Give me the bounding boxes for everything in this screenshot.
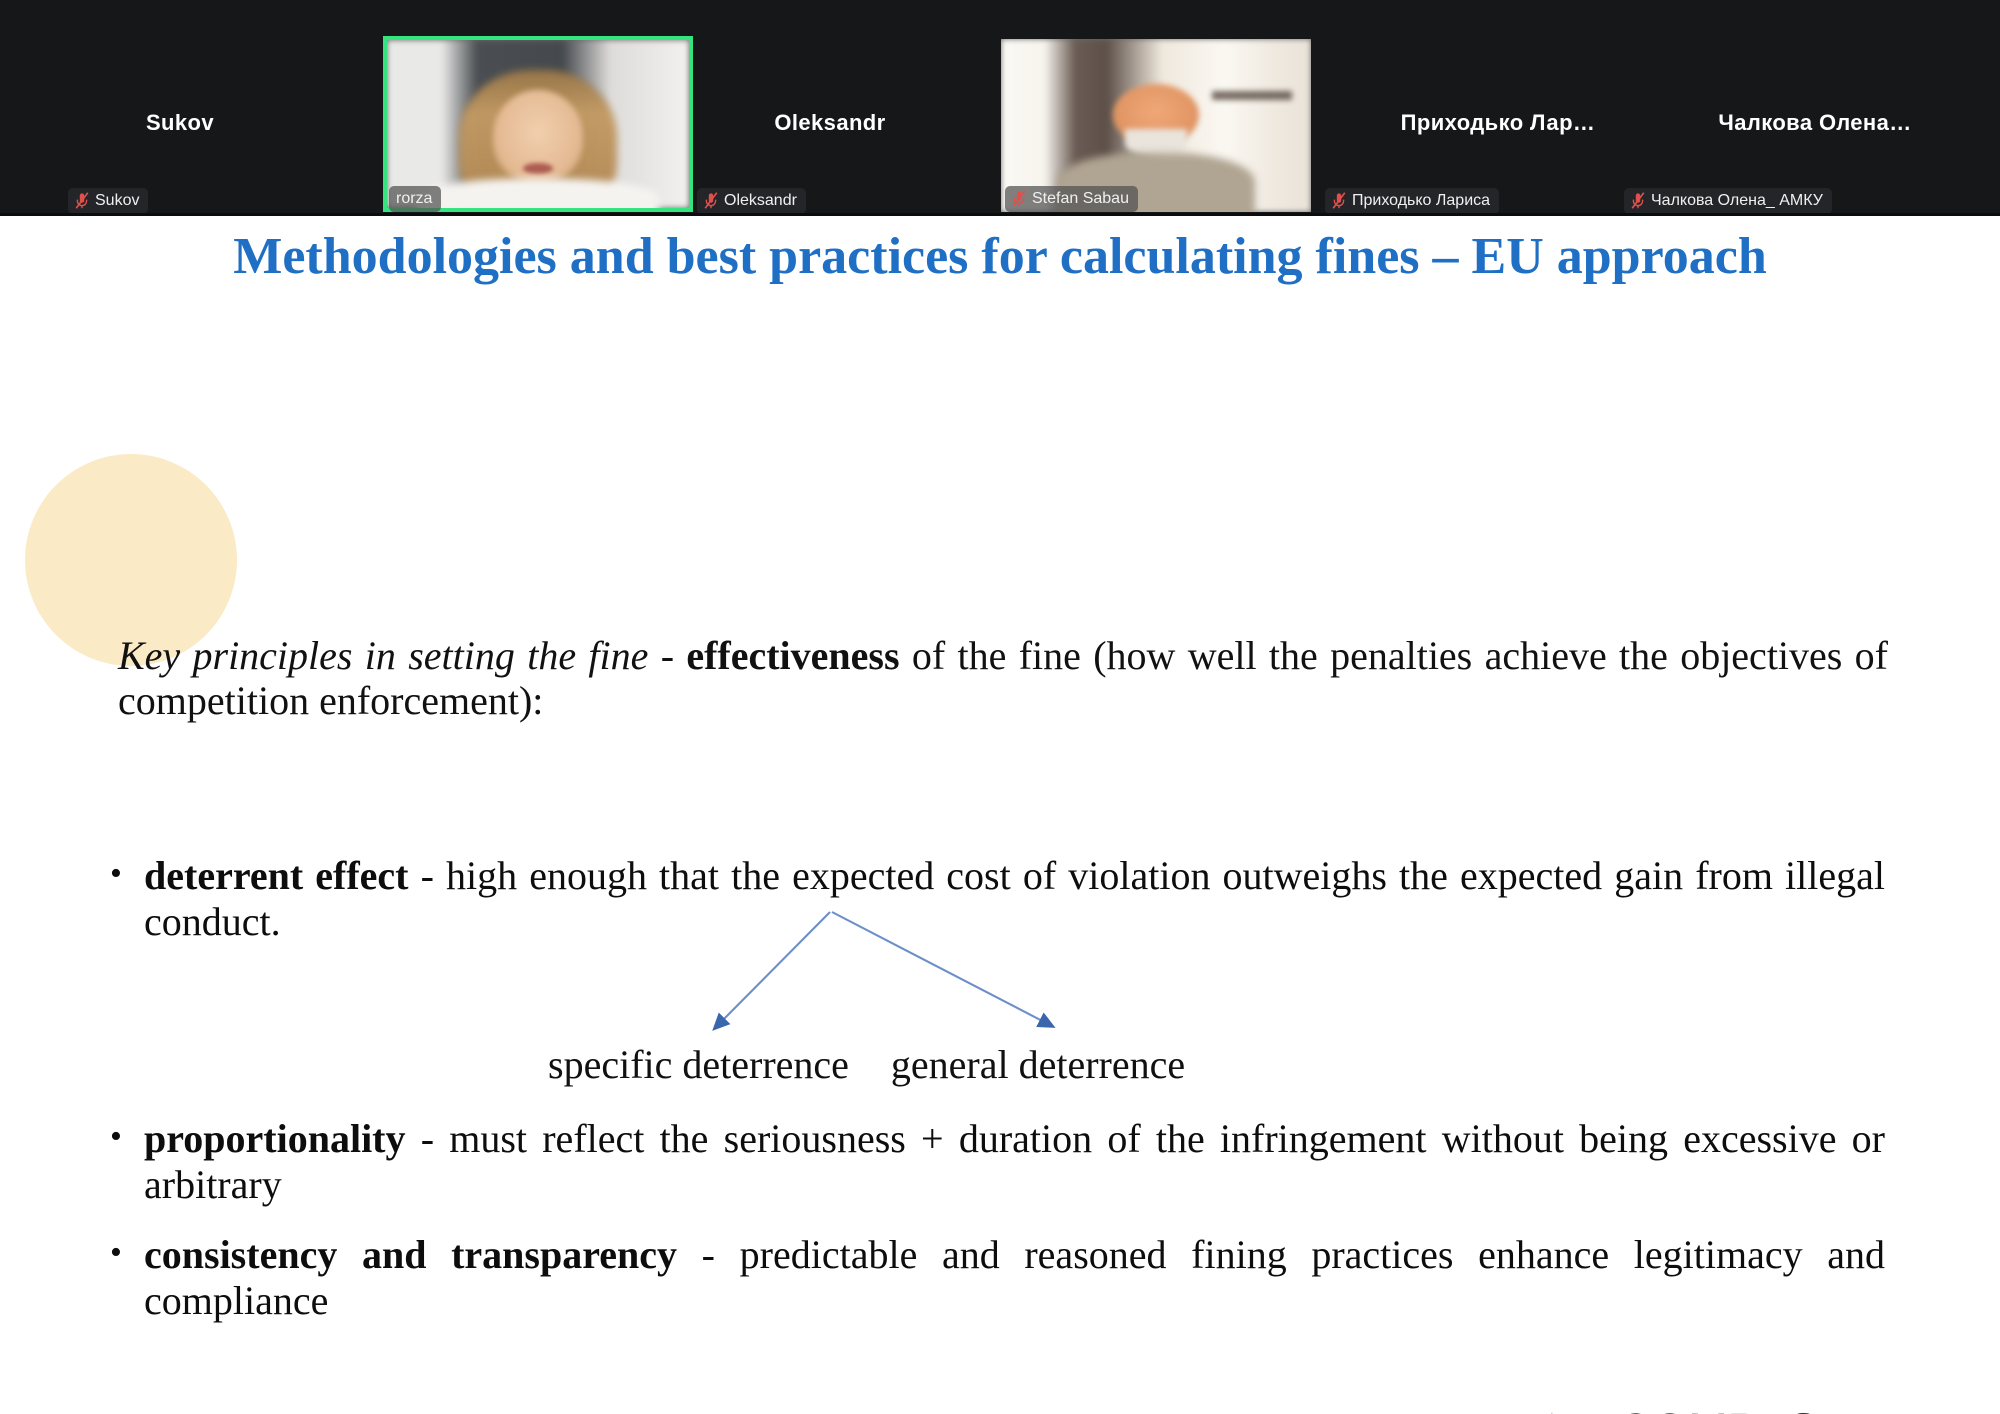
bullet-lead-term: deterrent effect xyxy=(144,853,409,898)
mic-muted-icon xyxy=(1012,190,1026,207)
participant-badge-label-0: Sukov xyxy=(95,192,139,210)
compasa-star-icon xyxy=(1495,1408,1603,1414)
bullet-consistency-transparency: • consistency and transparency - predict… xyxy=(110,1232,1885,1323)
bullet-marker: • xyxy=(110,1116,144,1159)
participant-name-5: Чалкова Олена… xyxy=(1645,110,1985,136)
label-specific-deterrence: specific deterrence xyxy=(548,1041,849,1088)
presentation-slide: Methodologies and best practices for cal… xyxy=(0,216,2000,1414)
lead-bold: effectiveness xyxy=(686,633,899,678)
deterrence-arrows xyxy=(660,906,1140,1041)
bullet-proportionality: • proportionality - must reflect the ser… xyxy=(110,1116,1885,1207)
deterrence-labels: specific deterrence general deterrence xyxy=(548,1041,1308,1088)
participant-badge-0: Sukov xyxy=(68,188,148,214)
lead-italic: Key principles in setting the fine xyxy=(118,633,648,678)
participant-badge-label-4: Приходько Лариса xyxy=(1352,192,1490,210)
lead-dash: - xyxy=(648,633,686,678)
compasa-logo: COMPASA PROJECT ON COMPETITION AND STATE… xyxy=(1495,1408,1972,1414)
participant-badge-label-3: Stefan Sabau xyxy=(1032,190,1129,208)
screen: Sukov Sukov rorza Oleksandr xyxy=(0,0,2000,1414)
bullet-rest: - must reflect the seriousness + duratio… xyxy=(144,1116,1885,1207)
bullet-lead-term: proportionality xyxy=(144,1116,406,1161)
compasa-wordmark: COMPASA xyxy=(1617,1408,1972,1414)
amcu-logo: ANTIMONOPOLY COMMITTEE OF UKRAINE xyxy=(735,1406,1151,1414)
slide-title: Methodologies and best practices for cal… xyxy=(150,226,1850,288)
mic-muted-icon xyxy=(75,192,89,209)
participant-badge-2: Oleksandr xyxy=(697,188,806,214)
video-feed-decor xyxy=(417,178,659,212)
participant-badge-4: Приходько Лариса xyxy=(1325,188,1499,214)
video-feed-decor xyxy=(1212,91,1293,100)
participant-badge-1: rorza xyxy=(389,186,441,212)
label-general-deterrence: general deterrence xyxy=(891,1041,1185,1088)
participant-badge-label-1: rorza xyxy=(396,190,432,208)
compasa-text-block: COMPASA PROJECT ON COMPETITION AND STATE… xyxy=(1617,1408,1972,1414)
participant-name-4: Приходько Лар… xyxy=(1328,110,1668,136)
participant-badge-5: Чалкова Олена_ АМКУ xyxy=(1624,188,1832,214)
video-filmstrip: Sukov Sukov rorza Oleksandr xyxy=(0,0,2000,215)
bullet-lead-term: consistency and transparency xyxy=(144,1232,677,1277)
slide-lead-paragraph: Key principles in setting the fine - eff… xyxy=(118,634,1888,724)
bullet-text: proportionality - must reflect the serio… xyxy=(144,1116,1885,1207)
mic-muted-icon xyxy=(1332,192,1346,209)
participant-badge-label-5: Чалкова Олена_ АМКУ xyxy=(1651,192,1823,210)
participant-badge-label-2: Oleksandr xyxy=(724,192,797,210)
participant-name-2: Oleksandr xyxy=(680,110,980,136)
bullet-marker: • xyxy=(110,1232,144,1275)
mic-muted-icon xyxy=(1631,192,1645,209)
bullet-marker: • xyxy=(110,853,144,896)
participant-badge-3: Stefan Sabau xyxy=(1005,186,1138,212)
amcu-emblem-icon xyxy=(735,1406,911,1414)
participant-name-0: Sukov xyxy=(60,110,300,136)
bullet-text: consistency and transparency - predictab… xyxy=(144,1232,1885,1323)
mic-muted-icon xyxy=(704,192,718,209)
